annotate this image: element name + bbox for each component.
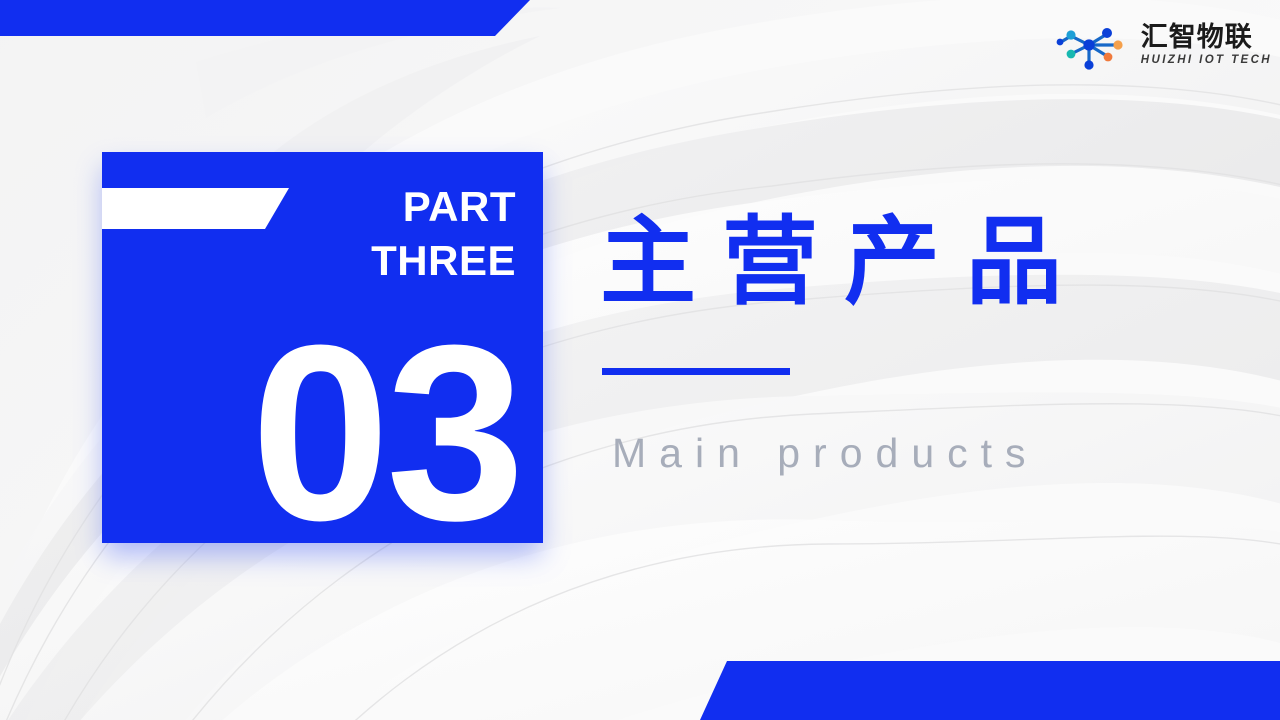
logo-english-name: HUIZHI IOT TECH <box>1141 55 1272 67</box>
part-label: PART THREE <box>216 180 516 288</box>
huizhi-molecule-mark-icon <box>1051 20 1135 70</box>
section-subtitle: Main products <box>612 430 1039 477</box>
part-label-line2: THREE <box>216 234 516 288</box>
part-label-line1: PART <box>216 180 516 234</box>
company-logo: 汇智物联 HUIZHI IOT TECH <box>1051 20 1272 70</box>
slide-canvas: PART THREE 03 主营产品 Main products <box>0 0 1280 720</box>
section-number-card: PART THREE 03 <box>102 152 543 543</box>
logo-text-block: 汇智物联 HUIZHI IOT TECH <box>1141 24 1272 67</box>
bottom-right-accent-band <box>700 661 1280 720</box>
logo-chinese-name: 汇智物联 <box>1141 24 1272 51</box>
title-underline-rule <box>602 368 790 375</box>
section-title: 主营产品 <box>600 213 1088 314</box>
top-left-accent-band <box>0 0 530 36</box>
section-number: 03 <box>251 310 521 543</box>
